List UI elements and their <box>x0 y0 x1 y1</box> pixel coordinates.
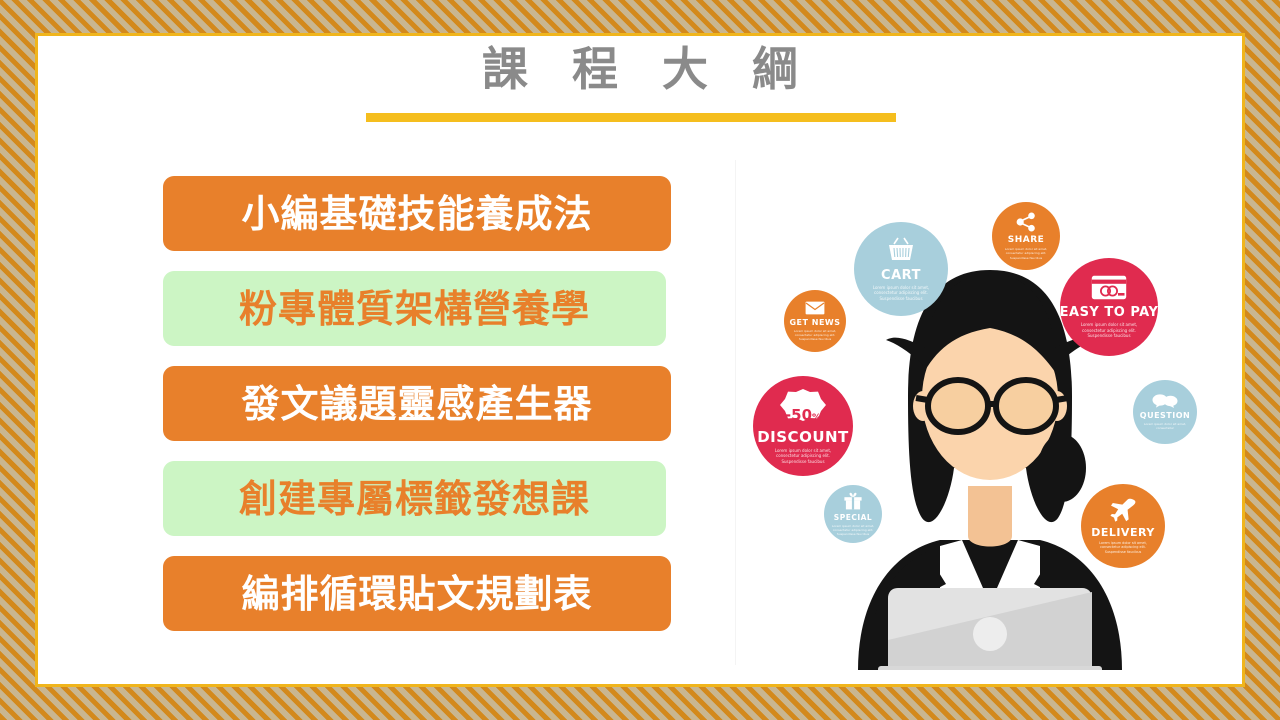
credit-card-icon <box>1091 275 1127 300</box>
topic-label: 粉專體質架構營養學 <box>239 290 590 328</box>
hair-bun-icon <box>1038 434 1086 502</box>
badge-subtitle: Lorem ipsum dolor sit amet, consectetur … <box>999 247 1052 259</box>
topic-bar-3[interactable]: 發文議題靈感產生器 <box>163 366 671 441</box>
illustration-businesswoman: CART Lorem ipsum dolor sit amet, consect… <box>740 200 1240 670</box>
badge-subtitle: Lorem ipsum dolor sit amet, consectetur … <box>1090 541 1156 555</box>
badge-subtitle: Lorem ipsum dolor sit amet, consectetur <box>1140 422 1190 430</box>
neck-icon <box>968 486 1012 547</box>
badge-title: GET NEWS <box>789 318 840 327</box>
badge-subtitle: Lorem ipsum dolor sit amet, consectetur … <box>791 329 839 341</box>
badge-discount[interactable]: -50% DISCOUNT Lorem ipsum dolor sit amet… <box>753 376 853 476</box>
badge-title: SPECIAL <box>834 513 872 522</box>
badge-subtitle: Lorem ipsum dolor sit amet, consectetur … <box>764 448 842 464</box>
badge-question[interactable]: QUESTION Lorem ipsum dolor sit amet, con… <box>1133 380 1197 444</box>
discount-value: -50 <box>785 406 812 424</box>
airplane-icon <box>1109 498 1137 522</box>
badge-title: QUESTION <box>1140 411 1190 420</box>
discount-value-wrap: -50% <box>753 406 853 424</box>
topic-label: 編排循環貼文規劃表 <box>241 575 592 613</box>
title-underline <box>366 113 896 122</box>
laptop-logo-icon <box>973 617 1007 651</box>
topic-bar-2[interactable]: 粉專體質架構營養學 <box>163 271 666 346</box>
speech-bubbles-icon <box>1152 394 1178 408</box>
badge-title: CART <box>881 268 921 283</box>
badge-easy-to-pay[interactable]: EASY TO PAY Lorem ipsum dolor sit amet, … <box>1060 258 1158 356</box>
page-title: 課 程 大 綱 <box>0 42 1280 97</box>
topic-bar-5[interactable]: 編排循環貼文規劃表 <box>163 556 671 631</box>
share-icon <box>1016 212 1036 232</box>
badge-special[interactable]: SPECIAL Lorem ipsum dolor sit amet, cons… <box>824 485 882 543</box>
column-divider <box>735 160 736 665</box>
badge-delivery[interactable]: DELIVERY Lorem ipsum dolor sit amet, con… <box>1081 484 1165 568</box>
laptop-base-icon <box>878 666 1102 670</box>
badge-get-news[interactable]: GET NEWS Lorem ipsum dolor sit amet, con… <box>784 290 846 352</box>
badge-subtitle: Lorem ipsum dolor sit amet, consectetur … <box>864 285 937 301</box>
slide-canvas: 課 程 大 綱 小編基礎技能養成法 粉專體質架構營養學 發文議題靈感產生器 創建… <box>0 0 1280 720</box>
badge-title: SHARE <box>1008 235 1045 245</box>
topic-label: 發文議題靈感產生器 <box>241 385 592 423</box>
badge-share[interactable]: SHARE Lorem ipsum dolor sit amet, consec… <box>992 202 1060 270</box>
topic-label: 創建專屬標籤發想課 <box>239 480 590 518</box>
topic-label: 小編基礎技能養成法 <box>241 195 592 233</box>
topic-bar-1[interactable]: 小編基礎技能養成法 <box>163 176 671 251</box>
discount-unit: % <box>812 413 821 423</box>
badge-title: EASY TO PAY <box>1060 305 1158 320</box>
badge-subtitle: Lorem ipsum dolor sit amet, consectetur … <box>830 524 875 536</box>
gift-icon <box>843 492 863 510</box>
envelope-icon <box>805 301 825 315</box>
badge-title-discount: DISCOUNT <box>757 428 849 446</box>
topic-bar-4[interactable]: 創建專屬標籤發想課 <box>163 461 666 536</box>
basket-icon <box>886 237 916 263</box>
badge-title: DELIVERY <box>1091 526 1155 539</box>
badge-subtitle: Lorem ipsum dolor sit amet, consectetur … <box>1071 322 1147 338</box>
topic-list: 小編基礎技能養成法 粉專體質架構營養學 發文議題靈感產生器 創建專屬標籤發想課 … <box>163 176 673 651</box>
badge-cart[interactable]: CART Lorem ipsum dolor sit amet, consect… <box>854 222 948 316</box>
